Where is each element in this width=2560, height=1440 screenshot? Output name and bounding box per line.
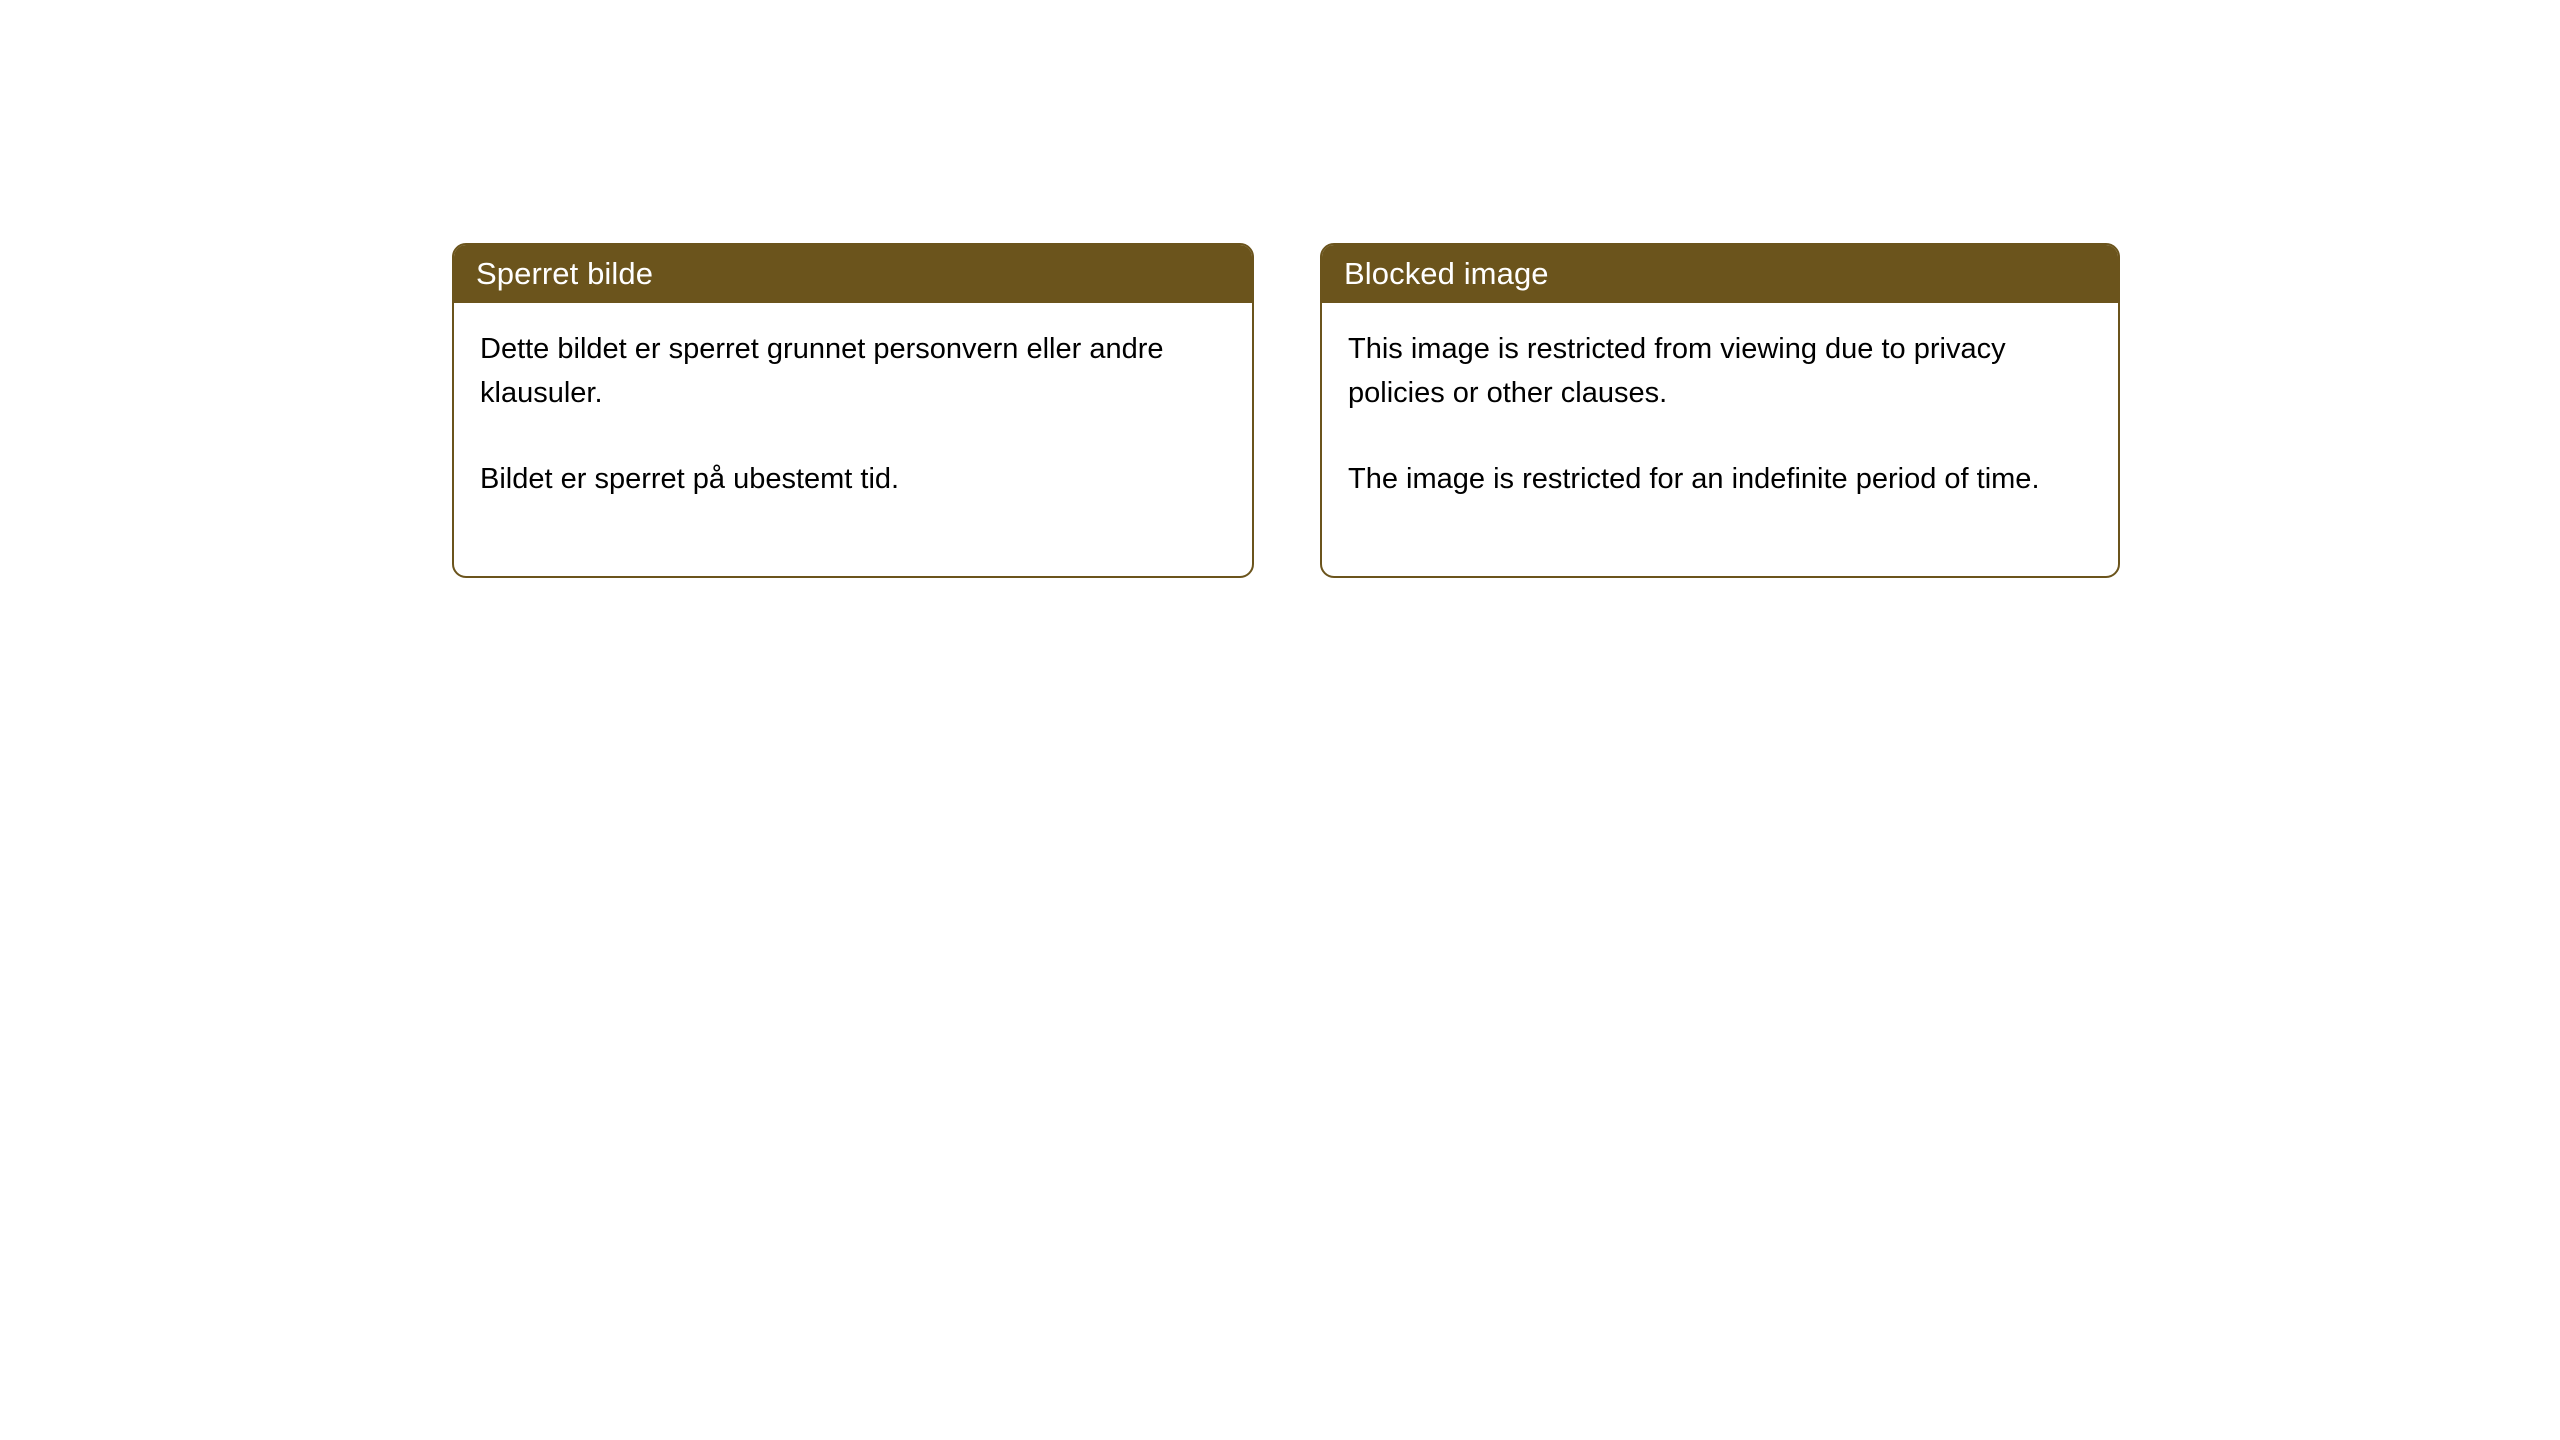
notice-paragraph-reason-no: Dette bildet er sperret grunnet personve…: [480, 327, 1200, 415]
notice-body-no: Dette bildet er sperret grunnet personve…: [454, 303, 1252, 576]
notice-paragraph-duration-no: Bildet er sperret på ubestemt tid.: [480, 457, 1200, 501]
notice-header-no: Sperret bilde: [452, 243, 1254, 303]
notice-paragraph-reason-en: This image is restricted from viewing du…: [1348, 327, 2068, 415]
blocked-image-notice-en: Blocked image This image is restricted f…: [1320, 243, 2120, 578]
notice-body-en: This image is restricted from viewing du…: [1322, 303, 2118, 576]
notice-paragraph-duration-en: The image is restricted for an indefinit…: [1348, 457, 2068, 501]
notice-title-en: Blocked image: [1344, 258, 1549, 289]
blocked-image-notice-no: Sperret bilde Dette bildet er sperret gr…: [452, 243, 1254, 578]
notice-title-no: Sperret bilde: [476, 258, 653, 289]
notice-header-en: Blocked image: [1320, 243, 2120, 303]
